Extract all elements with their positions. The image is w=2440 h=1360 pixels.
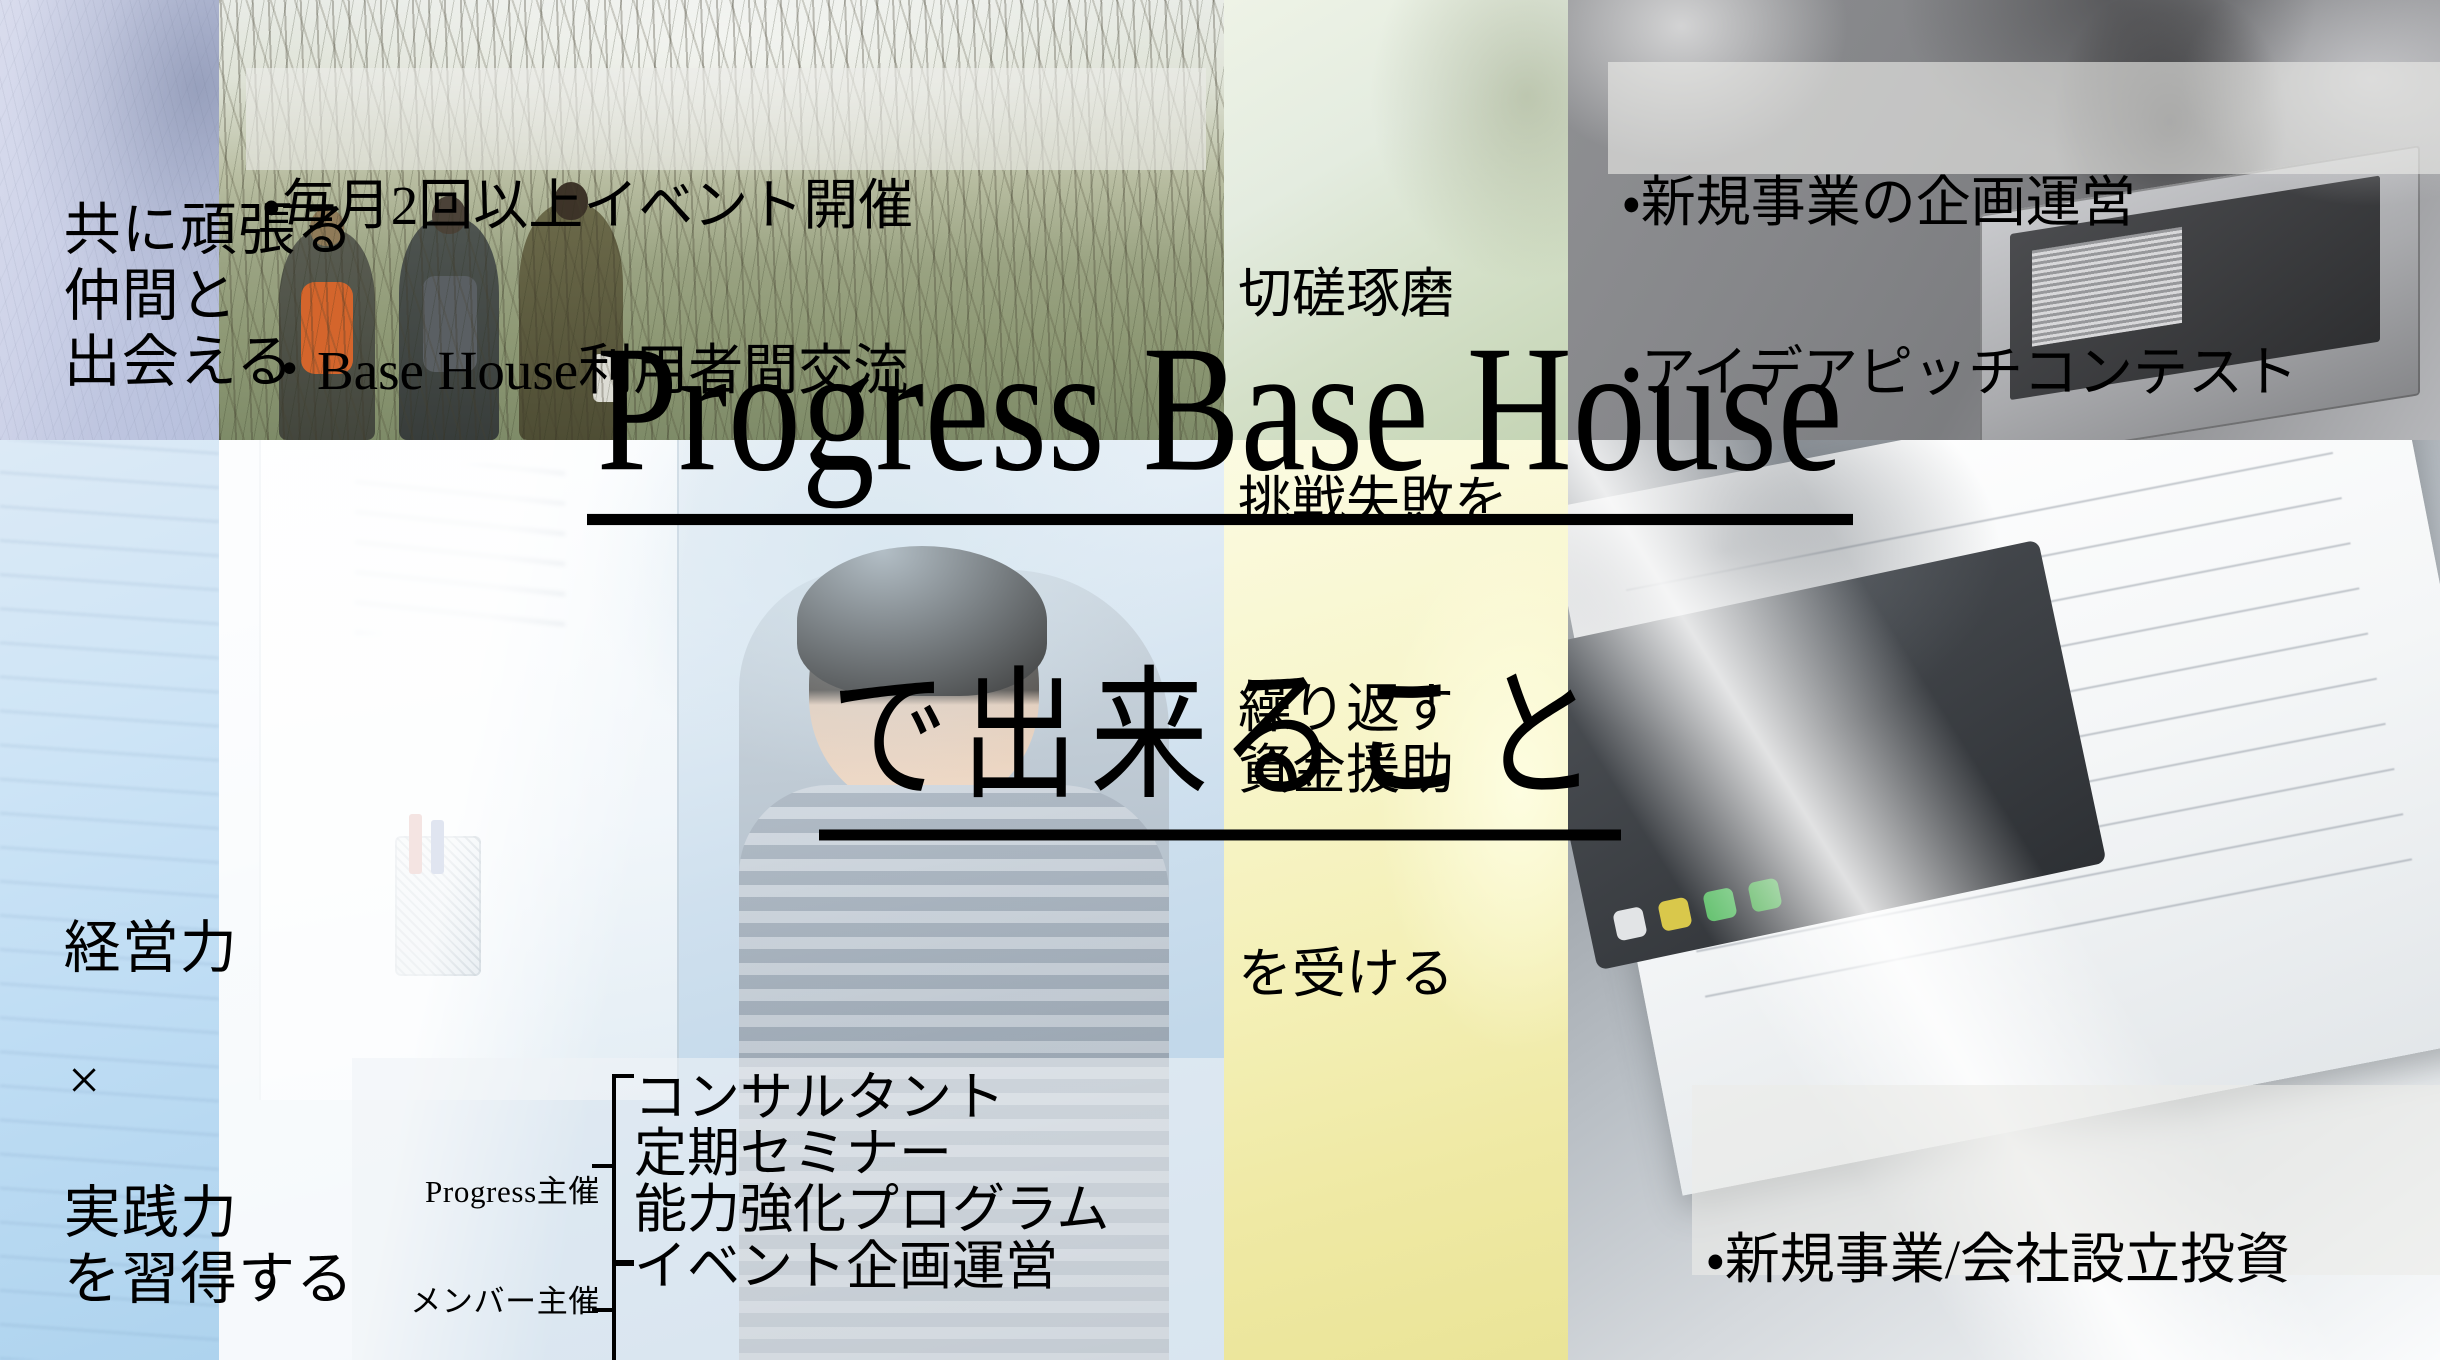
bottom-left-line-1: 経営力	[64, 917, 238, 980]
investment-list: ・新規事業/会社設立投資 ・投資ファンドの形成	[1706, 1090, 2290, 1360]
poster-title-line1-wrap: Progress Base House	[0, 318, 2440, 485]
bracket-progress	[612, 1074, 634, 1264]
investment-item-1: ・新規事業/会社設立投資	[1706, 1226, 2290, 1294]
program-item-list: コンサルタント 定期セミナー 能力強化プログラム イベント企画運営	[634, 1070, 1214, 1295]
program-host-progress: Progress主催	[425, 1166, 600, 1211]
program-breakdown: Progress主催 メンバー主催 コンサルタント 定期セミナー 能力強化プログ…	[372, 1070, 1212, 1360]
poster-title-line2-wrap: で出来ること	[0, 666, 2440, 809]
program-item-2: 定期セミナー	[634, 1126, 1214, 1182]
bottom-left-multiply-symbol: ×	[68, 1048, 354, 1114]
bottom-left-line-3: 実践力	[64, 1182, 238, 1245]
new-business-item-1: ・新規事業の企画運営	[1622, 175, 2298, 232]
poster-title-line1: Progress Base House	[587, 318, 1854, 525]
events-item-1: ・毎月2回以上イベント開催	[262, 178, 913, 233]
program-host-labels: Progress主催 メンバー主催	[372, 1070, 608, 1360]
program-item-4: イベント企画運営	[634, 1239, 1214, 1295]
program-item-1: コンサルタント	[634, 1070, 1214, 1126]
funding-line-1: 資金援助	[1238, 736, 1454, 804]
poster-canvas: 共に頑張る 仲間と 出会える ・毎月2回以上イベント開催 ・Base House…	[0, 0, 2440, 1360]
poster-title-line2: で出来ること	[819, 666, 1622, 840]
bottom-left-line-4: を習得する	[64, 1248, 355, 1311]
program-item-3: 能力強化プログラム	[634, 1182, 1214, 1238]
bracket-tick-progress	[592, 1164, 612, 1168]
bracket-tick-member	[592, 1308, 612, 1312]
pen-holder-icon	[395, 836, 481, 976]
funding-caption: 資金援助 を受ける	[1238, 600, 1454, 1144]
bottom-left-caption: 経営力 × 実践力 を習得する	[2, 850, 354, 1360]
funding-line-2: を受ける	[1238, 940, 1454, 1008]
program-host-member: メンバー主催	[410, 1276, 600, 1321]
tablet-app-icons	[1612, 877, 1783, 941]
bracket-member	[612, 1262, 634, 1360]
notebook	[1568, 440, 2440, 1196]
